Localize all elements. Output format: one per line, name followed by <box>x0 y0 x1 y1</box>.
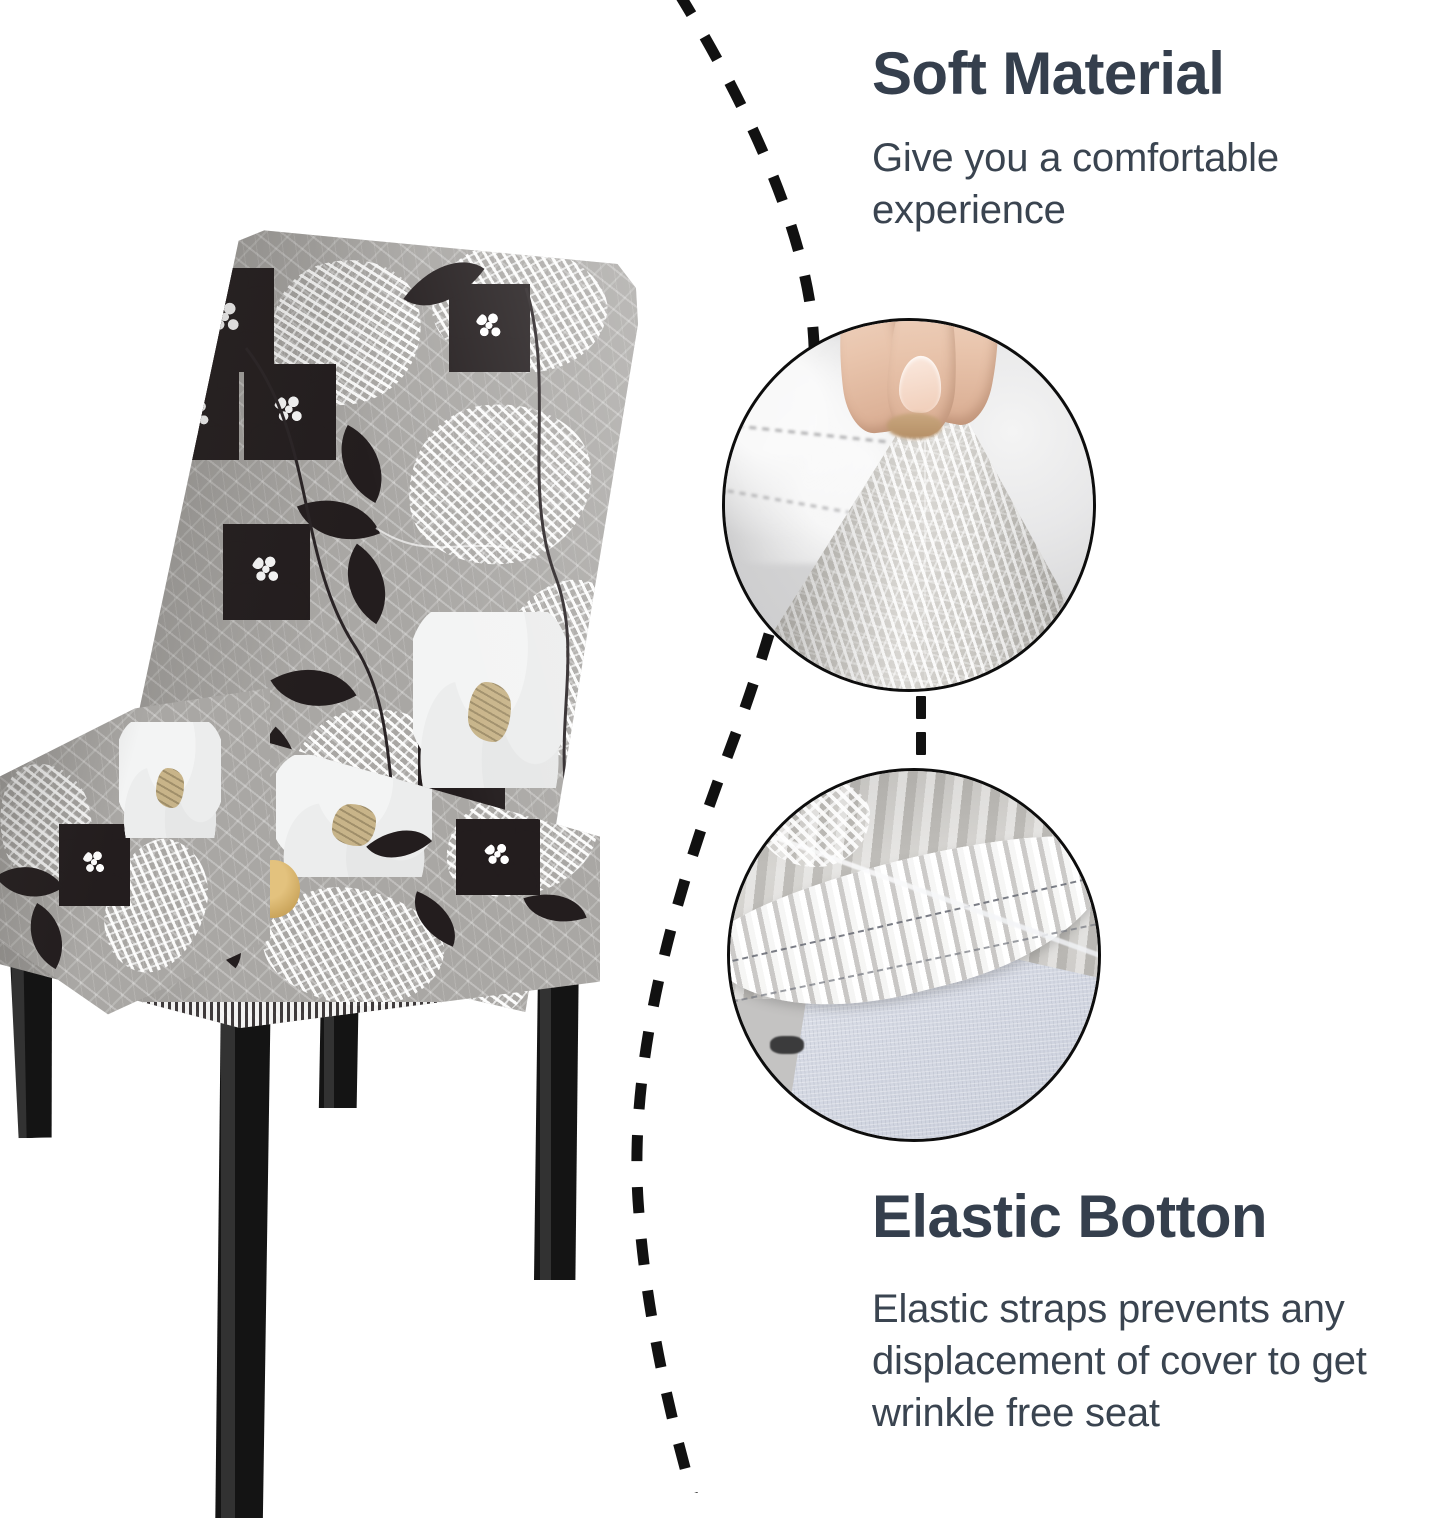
connector-dash-2 <box>916 732 926 755</box>
detail-photo-elastic-botton <box>727 768 1101 1142</box>
feature-description-soft-material: Give you a comfortable experience <box>872 132 1402 236</box>
fabric-pinch-point <box>887 413 942 439</box>
infographic-canvas: Soft Material Give you a comfortable exp… <box>0 0 1445 1493</box>
elastic-hem-photo-inner <box>730 771 1098 1139</box>
feature-title-elastic-botton: Elastic Botton <box>872 1185 1417 1249</box>
fingernail <box>898 354 943 413</box>
connector-dash-1 <box>916 696 926 719</box>
dashed-connector <box>916 696 926 762</box>
chair-with-floral-stretch-cover <box>0 218 700 1358</box>
dark-detail-spot <box>770 1036 803 1054</box>
feature-description-elastic-botton: Elastic straps prevents any displacement… <box>872 1283 1417 1439</box>
soft-material-photo-inner <box>725 321 1093 689</box>
leg-highlight <box>221 978 235 1518</box>
detail-photo-soft-material <box>722 318 1096 692</box>
feature-block-soft-material: Soft Material Give you a comfortable exp… <box>872 42 1402 236</box>
chair-leg-front-center <box>213 978 271 1518</box>
feature-block-elastic-botton: Elastic Botton Elastic straps prevents a… <box>872 1185 1417 1439</box>
feature-title-soft-material: Soft Material <box>872 42 1402 106</box>
